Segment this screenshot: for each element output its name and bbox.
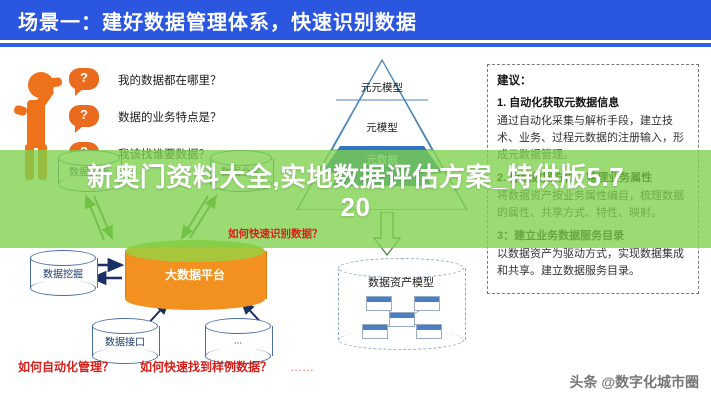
asset-node <box>416 324 442 339</box>
red-question-2: 如何快速找到样例数据？ <box>140 358 272 375</box>
person-arm-left <box>13 105 28 117</box>
platform-label: 大数据平台 <box>125 266 265 283</box>
asset-node <box>414 296 440 311</box>
data-asset-model-cylinder: 数据资产模型 <box>338 258 464 350</box>
title-bar: 场景一：建好数据管理体系，快速识别数据 <box>0 0 711 40</box>
advice-item-title-1: 1. 自动化获取元数据信息 <box>497 94 689 110</box>
asset-node-links <box>338 258 464 350</box>
question-text-1: 我的数据都在哪里？ <box>118 72 222 88</box>
person-body <box>27 100 45 148</box>
red-question-3: …… <box>290 360 314 374</box>
brand-watermark: 头条 @数字化城市圈 <box>569 372 699 392</box>
question-mark-glyph: ? <box>69 107 99 122</box>
watermark-text: 新奥门资料大全,实地数据评估方案_特供版5.7 20 <box>0 163 711 223</box>
cylinder-top <box>92 318 158 334</box>
platform-bottom <box>125 288 265 310</box>
pyramid-level-label-mid: 元模型 <box>296 120 468 135</box>
asset-node <box>366 296 392 311</box>
advice-item-body-3: 以数据资产为驱动方式，实现数据集成和共享。建立数据服务目录。 <box>497 246 689 280</box>
red-question-1: 如何自动化管理？ <box>18 358 114 375</box>
title-rule <box>0 43 711 47</box>
cylinder-label: 数据接口 <box>92 334 158 349</box>
question-mark-glyph: ? <box>69 70 99 85</box>
advice-heading: 建议： <box>497 72 689 88</box>
cylinder-bottom <box>30 280 96 296</box>
cylinder-data-mining: 数据挖掘 <box>30 250 96 296</box>
cylinder-top <box>30 250 96 266</box>
page-title: 场景一：建好数据管理体系，快速识别数据 <box>18 6 417 35</box>
green-question-1: 如何快速识别数据？ <box>228 226 323 241</box>
cylinder-top <box>205 318 271 334</box>
slide-canvas: 场景一：建好数据管理体系，快速识别数据 ? 我的数据都在哪里？ ? 数据的业务特… <box>0 0 711 400</box>
question-bubble-icon: ? <box>69 68 99 90</box>
pyramid-level-label-top: 元元模型 <box>296 80 468 95</box>
cylinder-label: ... <box>205 336 271 347</box>
question-text-2: 数据的业务特点是？ <box>118 109 222 125</box>
cylinder-label: 数据挖掘 <box>30 266 96 281</box>
watermark-line-2: 20 <box>0 193 711 223</box>
asset-node <box>389 312 415 327</box>
big-data-platform-cylinder: 大数据平台 <box>125 240 265 310</box>
person-hand-right <box>44 77 63 88</box>
asset-node <box>362 324 388 339</box>
question-bubble-icon: ? <box>69 105 99 127</box>
watermark-line-1: 新奥门资料大全,实地数据评估方案_特供版5.7 <box>87 162 624 192</box>
